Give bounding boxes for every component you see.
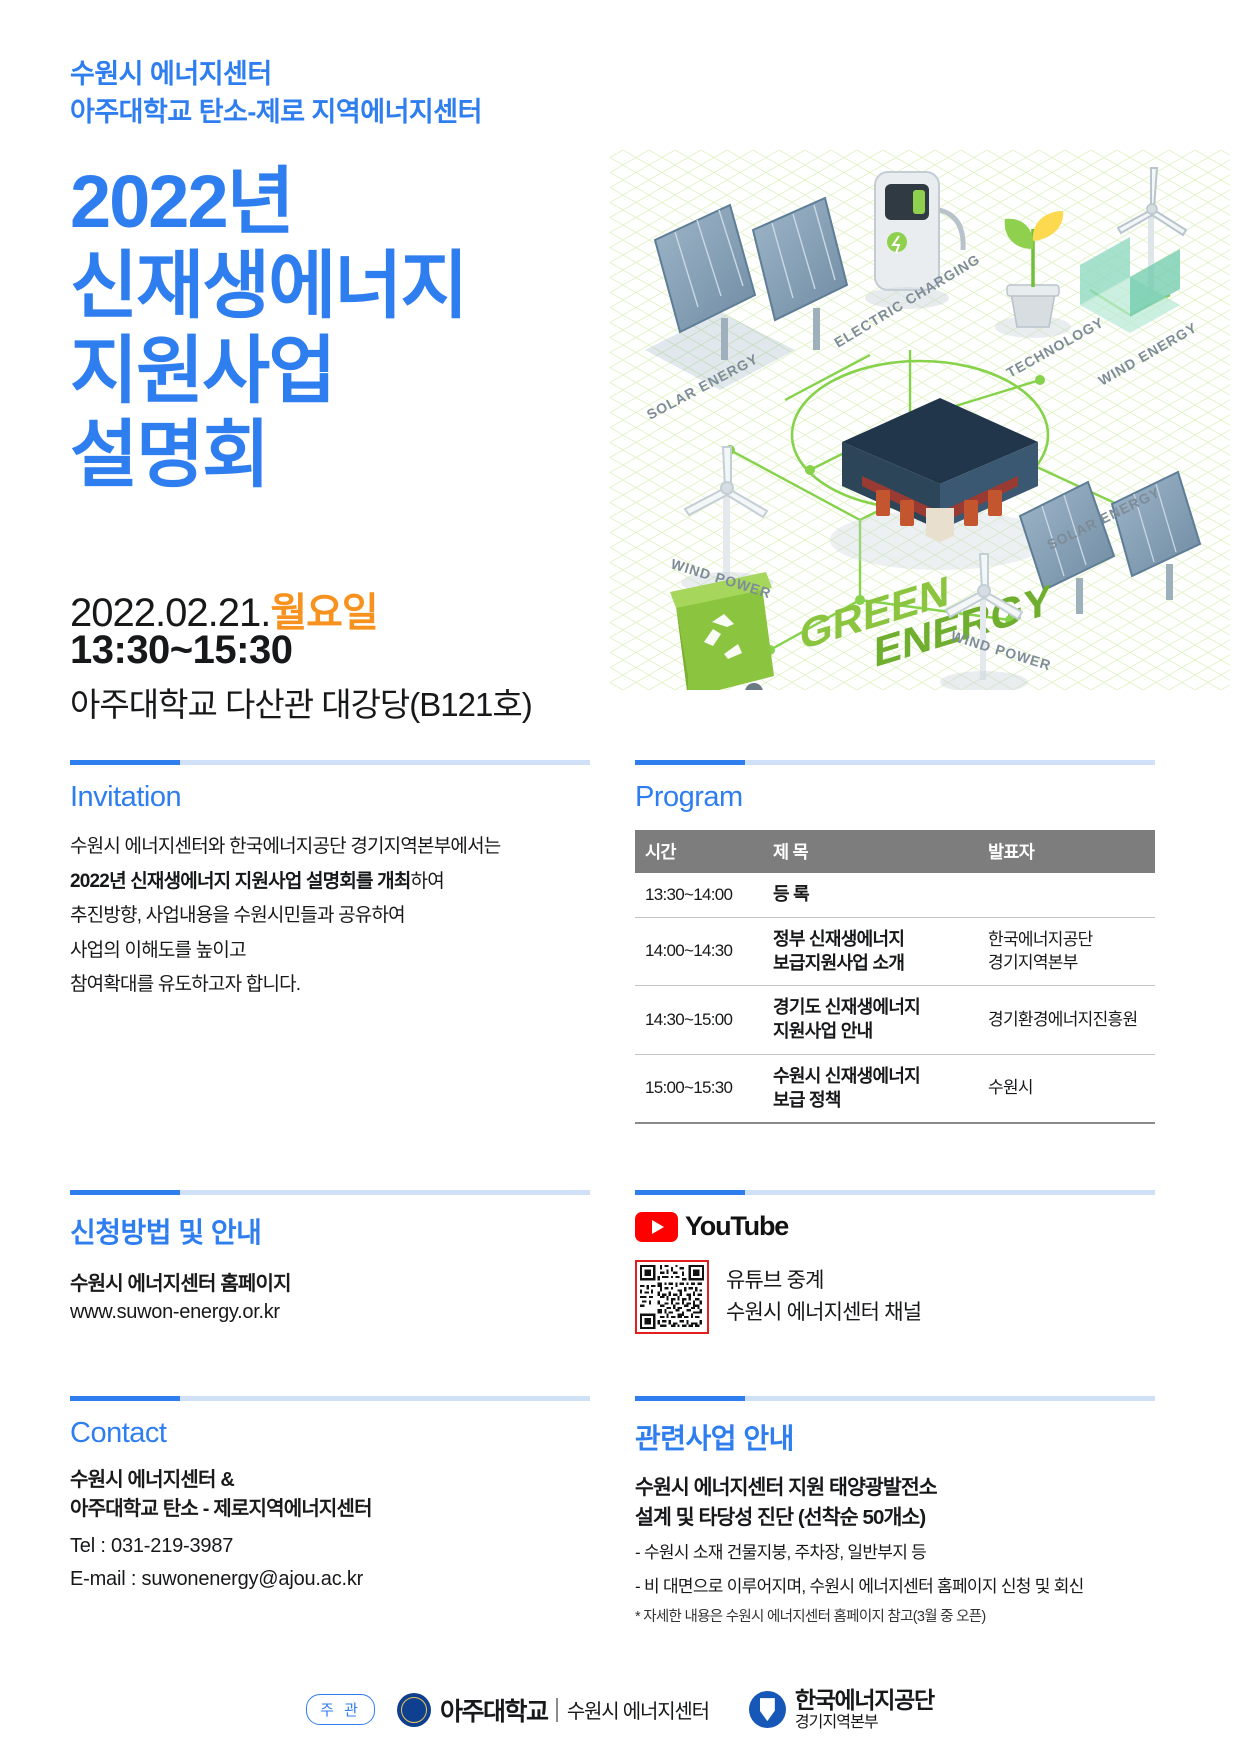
youtube-logo-wrap[interactable]: YouTube: [635, 1211, 1155, 1242]
title-line-3: 지원사업: [70, 329, 466, 413]
related-title: 관련사업 안내: [635, 1417, 1155, 1457]
invitation-title: Invitation: [70, 781, 590, 814]
table-row: 13:30~14:00 등 록: [635, 873, 1155, 917]
ajou-seal-icon: [397, 1693, 431, 1727]
invitation-line-2-tail: 하여: [411, 871, 444, 892]
title-line-4: 설명회: [70, 413, 466, 497]
row-apply-youtube: 신청방법 및 안내 수원시 에너지센터 홈페이지 www.suwon-energ…: [0, 1190, 1240, 1334]
related-note: * 자세한 내용은 수원시 에너지센터 홈페이지 참고(3월 중 오픈): [635, 1605, 1155, 1626]
event-time: 13:30~15:30: [70, 628, 292, 673]
contact-section: Contact 수원시 에너지센터 & 아주대학교 탄소 - 제로지역에너지센터…: [70, 1396, 590, 1626]
program-table-body: 13:30~14:00 등 록 14:00~14:30 정부 신재생에너지보급지…: [635, 873, 1155, 1123]
logo-divider: [556, 1698, 557, 1722]
qr-code-icon[interactable]: [635, 1260, 709, 1334]
row-speaker: 경기환경에너지진흥원: [978, 986, 1155, 1055]
row-speaker: 한국에너지공단경기지역본부: [978, 917, 1155, 986]
program-col-time: 시간: [635, 830, 763, 873]
table-row: 14:30~15:00 경기도 신재생에너지지원사업 안내 경기환경에너지진흥원: [635, 986, 1155, 1055]
youtube-section: YouTube: [635, 1190, 1155, 1334]
row-time: 14:00~14:30: [635, 917, 763, 986]
invitation-divider: [70, 760, 590, 765]
kea-line-1: 한국에너지공단: [795, 1687, 934, 1713]
youtube-logo[interactable]: YouTube: [635, 1211, 1155, 1242]
row-title: 등 록: [763, 873, 978, 917]
row-speaker: 수원시: [978, 1054, 1155, 1123]
invitation-body: 수원시 에너지센터와 한국에너지공단 경기지역본부에서는 2022년 신재생에너…: [70, 830, 590, 1003]
youtube-divider: [635, 1190, 1155, 1195]
hero-section: 수원시 에너지센터 아주대학교 탄소-제로 지역에너지센터 2022년 신재생에…: [0, 0, 1240, 760]
row-title: 수원시 신재생에너지보급 정책: [763, 1054, 978, 1123]
apply-site-url[interactable]: www.suwon-energy.or.kr: [70, 1301, 280, 1323]
ajou-logo-group: 아주대학교 수원시 에너지센터: [397, 1692, 709, 1728]
apply-divider: [70, 1190, 590, 1195]
apply-site-label: 수원시 에너지센터 홈페이지: [70, 1267, 590, 1296]
program-table: 시간 제 목 발표자 13:30~14:00 등 록 14:00~14:30 정…: [635, 830, 1155, 1124]
contact-email[interactable]: E-mail : suwonenergy@ajou.ac.kr: [70, 1564, 590, 1595]
program-divider: [635, 760, 1155, 765]
youtube-brand-label: YouTube: [685, 1211, 788, 1242]
invitation-line-3: 추진방향, 사업내용을 수원시민들과 공유하여: [70, 899, 590, 934]
contact-name-line-1: 수원시 에너지센터 &: [70, 1466, 590, 1495]
title-line-1: 2022년: [70, 160, 466, 244]
invitation-line-2-bold: 2022년 신재생에너지 지원사업 설명회를 개최: [70, 871, 411, 892]
contact-divider: [70, 1396, 590, 1401]
organization-names: 수원시 에너지센터 아주대학교 탄소-제로 지역에너지센터: [70, 55, 482, 132]
row-time: 14:30~15:00: [635, 986, 763, 1055]
youtube-line-2: 수원시 에너지센터 채널: [726, 1297, 921, 1330]
related-section: 관련사업 안내 수원시 에너지센터 지원 태양광발전소 설계 및 타당성 진단 …: [635, 1396, 1155, 1626]
kea-shield-icon: [749, 1691, 786, 1728]
content-sections: Invitation 수원시 에너지센터와 한국에너지공단 경기지역본부에서는 …: [0, 760, 1240, 1626]
program-section: Program 시간 제 목 발표자 13:30~14:00 등 록: [635, 760, 1155, 1124]
footer-logos: 주 관 아주대학교 수원시 에너지센터 한국에너지공단 경기지역본부: [0, 1687, 1240, 1732]
row-invitation-program: Invitation 수원시 에너지센터와 한국에너지공단 경기지역본부에서는 …: [0, 760, 1240, 1124]
apply-title: 신청방법 및 안내: [70, 1211, 590, 1251]
contact-name-line-2: 아주대학교 탄소 - 제로지역에너지센터: [70, 1495, 590, 1524]
program-col-title: 제 목: [763, 830, 978, 873]
kea-line-2: 경기지역본부: [795, 1714, 934, 1732]
table-row: 15:00~15:30 수원시 신재생에너지보급 정책 수원시: [635, 1054, 1155, 1123]
invitation-line-4: 사업의 이해도를 높이고: [70, 934, 590, 969]
related-bullet-1: - 수원시 소재 건물지붕, 주차장, 일반부지 등: [635, 1538, 1155, 1567]
page-title: 2022년 신재생에너지 지원사업 설명회: [70, 160, 466, 497]
row-contact-related: Contact 수원시 에너지센터 & 아주대학교 탄소 - 제로지역에너지센터…: [0, 1396, 1240, 1626]
energy-illustration: GREEN ENERGY SOLAR ENERGY ELECTRIC CHARG…: [610, 150, 1230, 690]
kea-logo-group: 한국에너지공단 경기지역본부: [749, 1687, 934, 1732]
org-line-2: 아주대학교 탄소-제로 지역에너지센터: [70, 93, 482, 131]
related-headline-1: 수원시 에너지센터 지원 태양광발전소: [635, 1473, 1155, 1503]
related-headline-2: 설계 및 타당성 진단 (선착순 50개소): [635, 1503, 1155, 1533]
title-line-2: 신재생에너지: [70, 244, 466, 328]
row-speaker: [978, 873, 1155, 917]
invitation-line-1: 수원시 에너지센터와 한국에너지공단 경기지역본부에서는: [70, 830, 590, 865]
program-table-head: 시간 제 목 발표자: [635, 830, 1155, 873]
contact-name-block: 수원시 에너지센터 & 아주대학교 탄소 - 제로지역에너지센터: [70, 1466, 590, 1524]
ajou-university-label: 아주대학교: [440, 1692, 548, 1728]
row-time: 15:00~15:30: [635, 1054, 763, 1123]
related-bullet-2: - 비 대면으로 이루어지며, 수원시 에너지센터 홈페이지 신청 및 회신: [635, 1572, 1155, 1601]
invitation-line-2: 2022년 신재생에너지 지원사업 설명회를 개최하여: [70, 865, 590, 900]
related-divider: [635, 1396, 1155, 1401]
row-title: 정부 신재생에너지보급지원사업 소개: [763, 917, 978, 986]
invitation-section: Invitation 수원시 에너지센터와 한국에너지공단 경기지역본부에서는 …: [70, 760, 590, 1124]
program-col-speaker: 발표자: [978, 830, 1155, 873]
youtube-line-1: 유튜브 중계: [726, 1265, 921, 1298]
youtube-play-icon: [635, 1212, 678, 1242]
event-venue: 아주대학교 다산관 대강당(B121호): [70, 678, 532, 726]
table-row: 14:00~14:30 정부 신재생에너지보급지원사업 소개 한국에너지공단경기…: [635, 917, 1155, 986]
program-header-row: 시간 제 목 발표자: [635, 830, 1155, 873]
program-title: Program: [635, 781, 1155, 814]
invitation-line-5: 참여확대를 유도하고자 합니다.: [70, 968, 590, 1003]
contact-tel[interactable]: Tel : 031-219-3987: [70, 1531, 590, 1562]
youtube-qr-row: 유튜브 중계 수원시 에너지센터 채널: [635, 1260, 1155, 1334]
row-time: 13:30~14:00: [635, 873, 763, 917]
contact-title: Contact: [70, 1417, 590, 1450]
apply-section: 신청방법 및 안내 수원시 에너지센터 홈페이지 www.suwon-energ…: [70, 1190, 590, 1334]
youtube-text-block: 유튜브 중계 수원시 에너지센터 채널: [726, 1265, 921, 1330]
kea-text-block: 한국에너지공단 경기지역본부: [795, 1687, 934, 1732]
org-line-1: 수원시 에너지센터: [70, 55, 482, 93]
row-title: 경기도 신재생에너지지원사업 안내: [763, 986, 978, 1055]
host-label-badge: 주 관: [306, 1694, 375, 1725]
suwon-center-label: 수원시 에너지센터: [567, 1695, 709, 1724]
